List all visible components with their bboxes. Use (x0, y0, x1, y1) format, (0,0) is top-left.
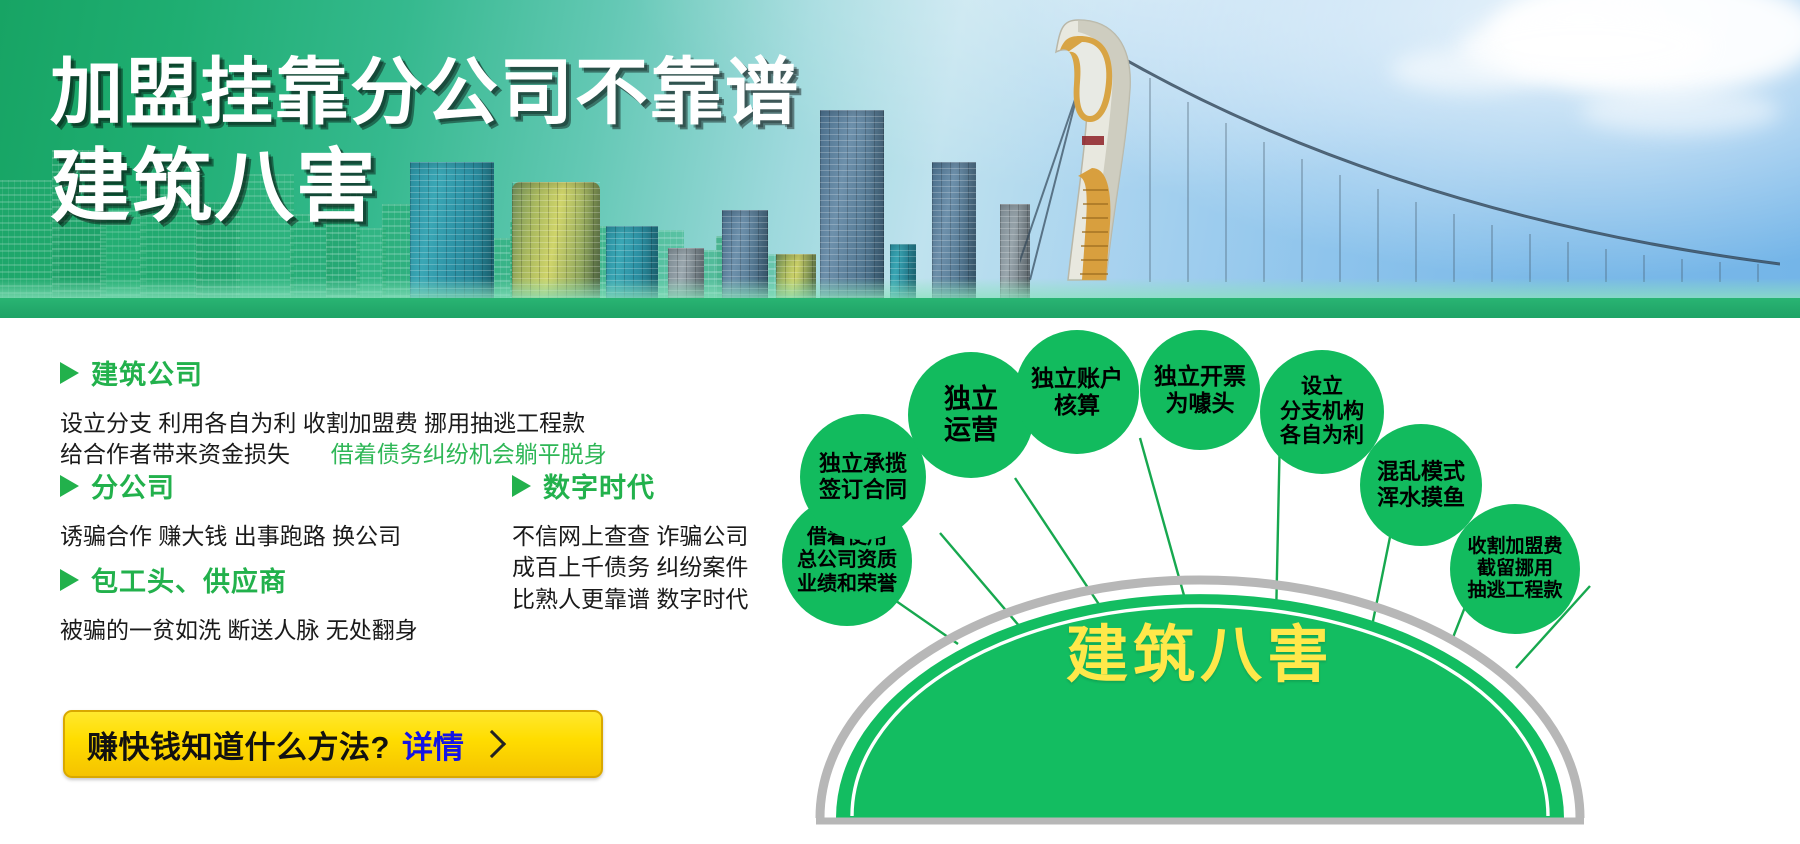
section-construction-company: 建筑公司 设立分支 利用各自为利 收割加盟费 挪用抽逃工程款 给合作者带来资金损… (60, 353, 607, 471)
eight-harms-diagram: 建筑八害 借着使用总公司资质业绩和荣誉 独立承揽签订合同 独立运营 独立账户核算… (800, 318, 1800, 844)
cta-main-label: 赚快钱知道什么方法? (87, 722, 390, 767)
section-title: 数字时代 (543, 466, 655, 505)
bubble-text: 独立承揽签订合同 (819, 451, 907, 502)
left-content-column: 建筑公司 设立分支 利用各自为利 收割加盟费 挪用抽逃工程款 给合作者带来资金损… (0, 318, 800, 844)
section-body: 不信网上查查 诈骗公司 成百上千债务 纠纷案件 比熟人更靠谱 数字时代 (512, 521, 748, 615)
bubble-b4[interactable]: 独立账户核算 (1015, 330, 1139, 454)
hero-title: 加盟挂靠分公司不靠谱 建筑八害 (50, 56, 800, 227)
section-header: 包工头、供应商 (60, 560, 418, 599)
triangle-bullet-icon (60, 362, 79, 384)
bubble-text: 独立运营 (944, 384, 998, 447)
bridge-graphic (1020, 18, 1780, 300)
triangle-bullet-icon (60, 569, 79, 591)
bubble-b2[interactable]: 独立承揽签订合同 (800, 414, 926, 540)
bubble-text: 收割加盟费截留挪用抽逃工程款 (1467, 536, 1562, 602)
bubble-b3[interactable]: 独立运营 (908, 352, 1034, 478)
section-line: 不信网上查查 诈骗公司 (512, 521, 748, 552)
section-title: 包工头、供应商 (91, 560, 287, 599)
cta-detail-link[interactable]: 详情 (402, 722, 464, 767)
triangle-bullet-icon (512, 475, 531, 497)
section-title: 建筑公司 (91, 353, 203, 392)
section-line-accent: 借着债务纠纷机会躺平脱身 (331, 441, 607, 467)
section-branch-company: 分公司 诱骗合作 赚大钱 出事跑路 换公司 (60, 466, 401, 552)
bubble-b6[interactable]: 设立分支机构各自为利 (1260, 350, 1384, 474)
cta-button[interactable]: 赚快钱知道什么方法? 详情 (63, 710, 603, 778)
hero-title-line-1: 加盟挂靠分公司不靠谱 (50, 56, 800, 129)
section-header: 分公司 (60, 466, 401, 505)
section-line: 被骗的一贫如洗 断送人脉 无处翻身 (60, 615, 418, 646)
section-title: 分公司 (91, 466, 175, 505)
banner-base-strip (0, 298, 1800, 318)
bubble-text: 独立账户核算 (1031, 365, 1123, 418)
section-line: 比熟人更靠谱 数字时代 (512, 584, 748, 615)
section-body: 被骗的一贫如洗 断送人脉 无处翻身 (60, 615, 418, 646)
section-header: 建筑公司 (60, 353, 607, 392)
chevron-right-icon (478, 730, 506, 758)
hero-banner: 加盟挂靠分公司不靠谱 建筑八害 (0, 0, 1800, 318)
banner-glow (0, 278, 1800, 298)
section-digital-era: 数字时代 不信网上查查 诈骗公司 成百上千债务 纠纷案件 比熟人更靠谱 数字时代 (512, 466, 748, 615)
bubble-b5[interactable]: 独立开票为噱头 (1140, 330, 1260, 450)
section-line: 诱骗合作 赚大钱 出事跑路 换公司 (60, 521, 401, 552)
section-header: 数字时代 (512, 466, 748, 505)
section-line-plain: 给合作者带来资金损失 (60, 441, 290, 467)
bubble-b8[interactable]: 收割加盟费截留挪用抽逃工程款 (1450, 504, 1580, 634)
section-line: 成百上千债务 纠纷案件 (512, 552, 748, 583)
tower-building (820, 110, 884, 300)
section-body: 设立分支 利用各自为利 收割加盟费 挪用抽逃工程款 给合作者带来资金损失 借着债… (60, 408, 607, 471)
hero-title-line-2: 建筑八害 (50, 147, 800, 227)
bubble-text: 独立开票为噱头 (1154, 363, 1246, 416)
triangle-bullet-icon (60, 475, 79, 497)
dome-label: 建筑八害 (990, 604, 1410, 694)
section-body: 诱骗合作 赚大钱 出事跑路 换公司 (60, 521, 401, 552)
section-contractor-supplier: 包工头、供应商 被骗的一贫如洗 断送人脉 无处翻身 (60, 560, 418, 646)
bubble-text: 设立分支机构各自为利 (1280, 375, 1364, 448)
bubble-text: 混乱模式浑水摸鱼 (1377, 459, 1465, 510)
section-line: 设立分支 利用各自为利 收割加盟费 挪用抽逃工程款 (60, 408, 607, 439)
poster-root: 加盟挂靠分公司不靠谱 建筑八害 建筑公司 设立分支 利用各自为利 收割加盟费 挪… (0, 0, 1800, 844)
